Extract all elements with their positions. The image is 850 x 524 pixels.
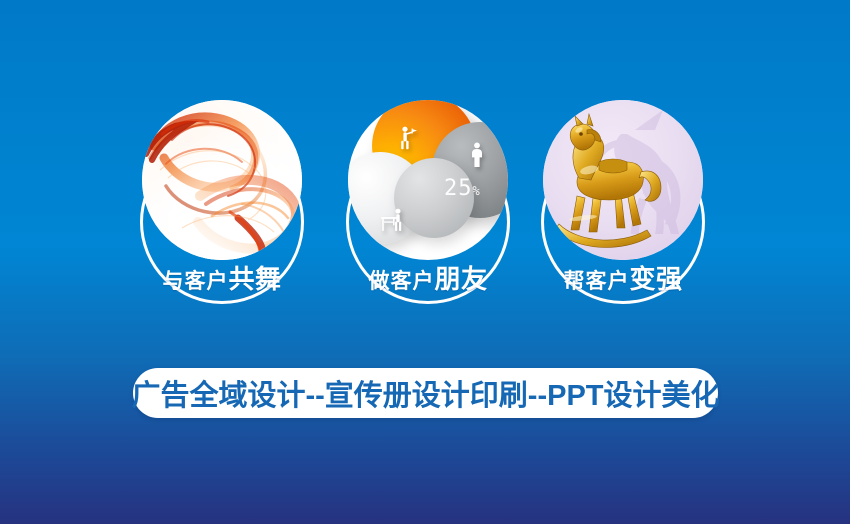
person-standing-icon (468, 142, 486, 168)
card-caption: 做客户朋友 (328, 266, 528, 292)
slide-canvas: 与客户共舞 (0, 0, 850, 524)
person-at-desk-icon (380, 208, 406, 232)
card-help-client-grow[interactable]: 帮客户变强 (523, 88, 723, 328)
orange-smoke-swirl-icon (142, 100, 302, 260)
stat-unit: % (473, 184, 481, 198)
caption-emphasis: 变强 (629, 264, 682, 294)
stat-percent: 25% (444, 176, 481, 201)
golden-rocking-horse-icon (543, 100, 703, 260)
artwork-disc-smoke (142, 100, 302, 260)
card-caption: 与客户共舞 (122, 266, 322, 292)
caption-lead: 做客户 (368, 270, 434, 293)
caption-emphasis: 朋友 (434, 264, 487, 294)
stat-value: 25 (444, 176, 473, 201)
artwork-disc-rocking-horse (543, 100, 703, 260)
card-caption: 帮客户变强 (523, 266, 723, 292)
service-banner-text: 广告全域设计--宣传册设计印刷--PPT设计美化 (131, 372, 719, 414)
caption-emphasis: 共舞 (228, 264, 281, 294)
artwork-disc-bubbles: 25% (348, 100, 508, 260)
card-be-client-friend[interactable]: 25% 做客户朋友 (328, 88, 528, 328)
service-banner-pill[interactable]: 广告全域设计--宣传册设计印刷--PPT设计美化 (133, 368, 718, 418)
caption-lead: 帮客户 (563, 270, 629, 293)
person-with-flag-icon (398, 126, 418, 150)
caption-lead: 与客户 (162, 270, 228, 293)
card-dance-with-client[interactable]: 与客户共舞 (122, 88, 322, 328)
